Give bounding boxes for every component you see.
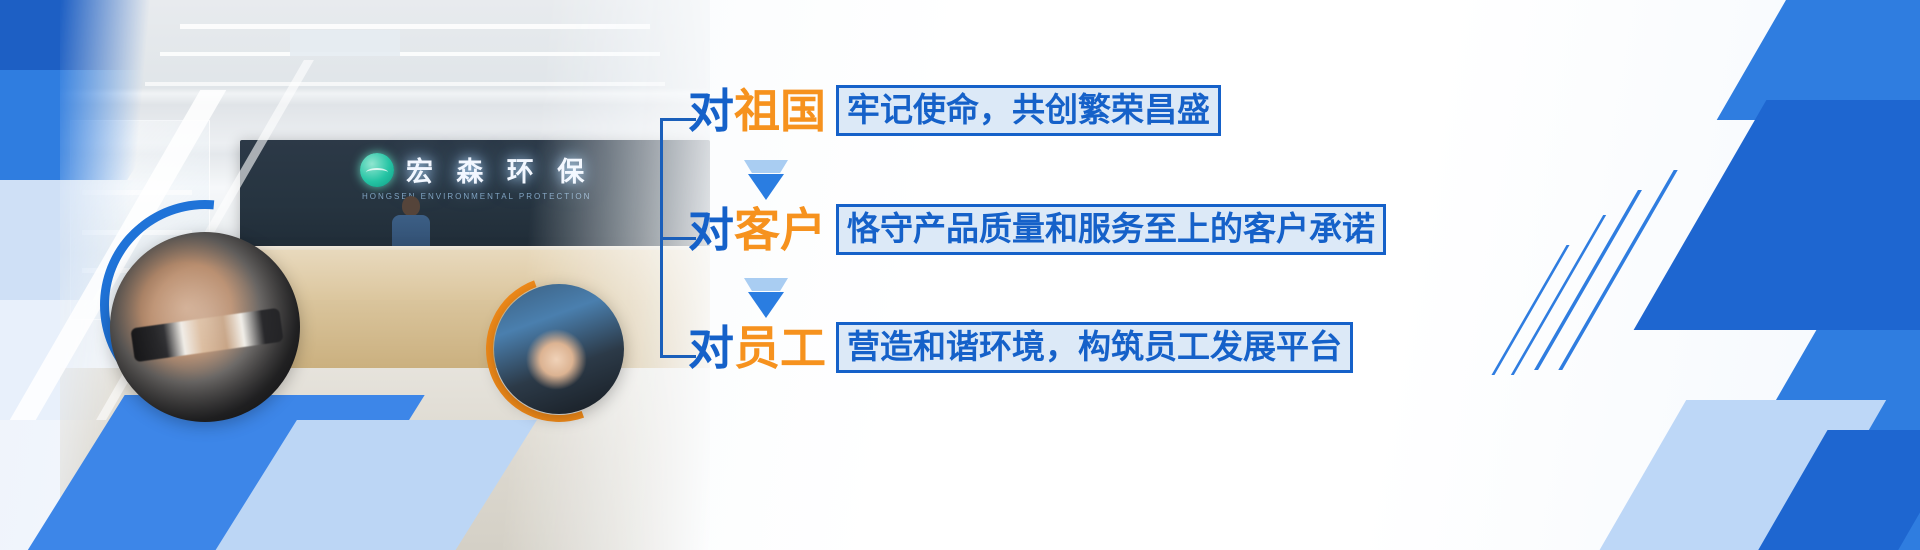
value-row-1-target: 祖国: [734, 84, 826, 138]
value-row-3: 对员工 营造和谐环境，构筑员工发展平台: [688, 322, 1353, 373]
value-row-2-lead: 对客户: [688, 207, 826, 253]
down-arrow-icon: [744, 160, 788, 200]
value-row-1: 对祖国 牢记使命，共创繁荣昌盛: [688, 85, 1221, 136]
value-row-2-target: 客户: [734, 203, 826, 257]
arrow-tip: [748, 292, 784, 318]
value-row-3-target: 员工: [734, 321, 826, 375]
value-row-3-lead: 对员工: [688, 325, 826, 371]
values-content: 对祖国 牢记使命，共创繁荣昌盛 对客户 恪守产品质量和服务至上的客户承诺 对员工…: [0, 0, 1920, 550]
value-row-1-lead: 对祖国: [688, 88, 826, 134]
value-row-2-statement: 恪守产品质量和服务至上的客户承诺: [836, 204, 1386, 255]
value-row-1-statement: 牢记使命，共创繁荣昌盛: [836, 85, 1221, 136]
company-values-banner: 宏 森 环 保 HONGSEN ENVIRONMENTAL PROTECTION: [0, 0, 1920, 550]
value-row-2-prefix: 对: [688, 203, 734, 257]
arrow-cap: [744, 278, 788, 291]
value-row-3-prefix: 对: [688, 321, 734, 375]
value-row-1-prefix: 对: [688, 84, 734, 138]
arrow-tip: [748, 174, 784, 200]
value-row-3-statement: 营造和谐环境，构筑员工发展平台: [836, 322, 1353, 373]
arrow-cap: [744, 160, 788, 173]
value-row-2: 对客户 恪守产品质量和服务至上的客户承诺: [688, 204, 1386, 255]
down-arrow-icon: [744, 278, 788, 318]
